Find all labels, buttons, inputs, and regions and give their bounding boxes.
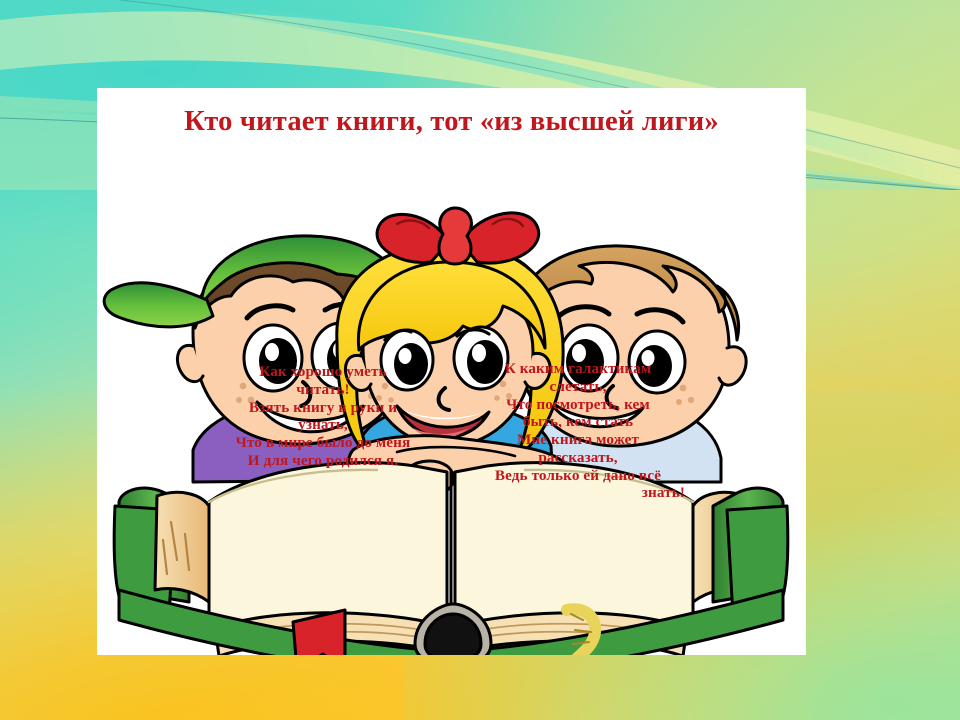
poem-right-line: Что посмотреть, кем — [467, 396, 689, 414]
poem-left-line: Взять книгу в руки и — [215, 399, 431, 417]
poem-left-line: И для чего родился я. — [215, 452, 431, 470]
presentation-slide: Кто читает книги, тот «из высшей лиги» — [0, 0, 960, 720]
poem-left-line: читать! — [215, 381, 431, 399]
poem-left-line: Как хорошо уметь — [215, 363, 431, 381]
poem-right-line: слетать, — [467, 378, 689, 396]
poem-right-line: Ведь только ей дано всё — [467, 467, 689, 485]
poem-right-line: К каким галактикам — [467, 360, 689, 378]
poem-right-line: знать! — [467, 484, 689, 502]
poem-left-line: узнать, — [215, 416, 431, 434]
page-title: Кто читает книги, тот «из высшей лиги» — [97, 106, 806, 138]
content-card: Кто читает книги, тот «из высшей лиги» — [97, 88, 806, 655]
poem-right-page: К каким галактикам слетать, Что посмотре… — [467, 360, 689, 502]
poem-right-line: Мне книга может — [467, 431, 689, 449]
poem-left-line: Что в мире было до меня — [215, 434, 431, 452]
poem-left-page: Как хорошо уметь читать! Взять книгу в р… — [215, 363, 431, 470]
hair-bow — [377, 208, 539, 264]
poem-right-line: быть, кем стать — [467, 413, 689, 431]
illustration-children-with-book — [97, 150, 806, 655]
poem-right-line: рассказать, — [467, 449, 689, 467]
